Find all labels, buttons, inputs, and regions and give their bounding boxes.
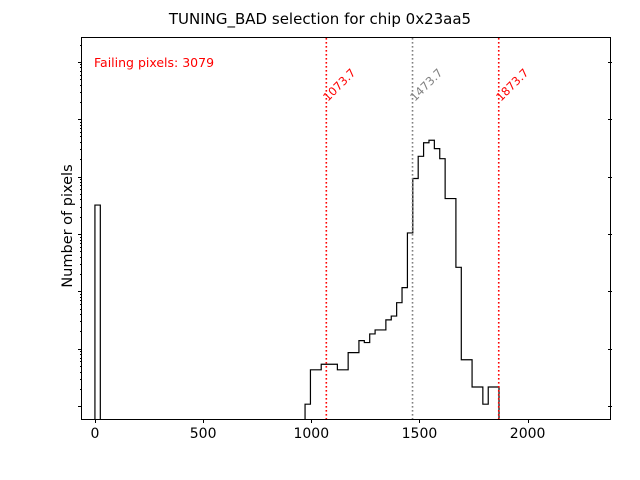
y-tick-minor	[80, 102, 82, 103]
y-tick-minor	[80, 257, 82, 258]
x-tick-label: 500	[163, 426, 243, 442]
y-tick-minor	[80, 194, 82, 195]
y-tick-minor	[80, 351, 82, 352]
y-tick-minor	[80, 182, 82, 183]
y-tick-major	[78, 177, 82, 178]
y-tick-minor	[80, 125, 82, 126]
x-tick-label: 1000	[271, 426, 351, 442]
y-tick-minor	[80, 358, 82, 359]
y-tick-minor	[80, 379, 82, 380]
y-tick-minor	[80, 122, 82, 123]
y-tick-minor	[80, 85, 82, 86]
y-tick-minor	[80, 136, 82, 137]
y-tick-minor	[80, 331, 82, 332]
x-tick-major	[419, 419, 420, 423]
y-tick-major-right	[608, 119, 612, 120]
y-tick-minor	[80, 64, 82, 65]
y-tick-minor	[80, 251, 82, 252]
y-tick-minor	[80, 92, 82, 93]
y-tick-major-right	[608, 234, 612, 235]
y-tick-major	[78, 234, 82, 235]
y-tick-minor	[80, 372, 82, 373]
y-tick-major-right	[608, 349, 612, 350]
x-tick-major	[203, 419, 204, 423]
page-title: TUNING_BAD selection for chip 0x23aa5	[0, 10, 640, 28]
histogram-step-line	[95, 140, 499, 419]
y-tick-minor	[80, 237, 82, 238]
y-tick-major	[78, 119, 82, 120]
y-tick-minor	[80, 217, 82, 218]
y-tick-minor	[80, 207, 82, 208]
y-tick-minor	[80, 128, 82, 129]
x-tick-label: 2000	[488, 426, 568, 442]
y-tick-minor	[80, 264, 82, 265]
y-tick-minor	[80, 142, 82, 143]
x-tick-major	[311, 419, 312, 423]
y-tick-minor	[80, 67, 82, 68]
figure-canvas: TUNING_BAD selection for chip 0x23aa5 Fa…	[0, 0, 640, 480]
x-tick-label: 1500	[379, 426, 459, 442]
y-tick-minor	[80, 185, 82, 186]
y-tick-minor	[80, 189, 82, 190]
y-axis-label: Number of pixels	[60, 16, 76, 436]
x-tick-major	[528, 419, 529, 423]
y-tick-major	[78, 291, 82, 292]
y-tick-minor	[80, 71, 82, 72]
y-tick-minor	[80, 243, 82, 244]
x-tick-major	[95, 419, 96, 423]
y-tick-minor	[80, 247, 82, 248]
y-tick-major-right	[608, 177, 612, 178]
y-tick-minor	[80, 199, 82, 200]
y-tick-minor	[80, 300, 82, 301]
y-tick-minor	[80, 389, 82, 390]
y-tick-minor	[80, 361, 82, 362]
y-tick-minor	[80, 354, 82, 355]
y-tick-major	[78, 406, 82, 407]
y-tick-major-right	[608, 291, 612, 292]
y-tick-minor	[80, 297, 82, 298]
y-tick-major	[78, 62, 82, 63]
plot-area: Failing pixels: 3079 Number of pixels Th…	[81, 37, 611, 420]
y-tick-minor	[80, 321, 82, 322]
y-tick-minor	[80, 240, 82, 241]
y-tick-minor	[80, 79, 82, 80]
y-tick-minor	[80, 294, 82, 295]
y-tick-minor	[80, 179, 82, 180]
y-tick-minor	[80, 309, 82, 310]
y-tick-minor	[80, 75, 82, 76]
y-tick-minor	[80, 132, 82, 133]
y-tick-minor	[80, 274, 82, 275]
y-tick-major-right	[608, 406, 612, 407]
y-tick-major	[78, 349, 82, 350]
y-tick-minor	[80, 304, 82, 305]
y-tick-minor	[80, 314, 82, 315]
y-tick-minor	[80, 149, 82, 150]
y-tick-major-right	[608, 62, 612, 63]
histogram-plot	[82, 38, 610, 419]
y-tick-minor	[80, 159, 82, 160]
y-tick-minor	[80, 45, 82, 46]
x-tick-label: 0	[55, 426, 135, 442]
y-tick-minor	[80, 366, 82, 367]
